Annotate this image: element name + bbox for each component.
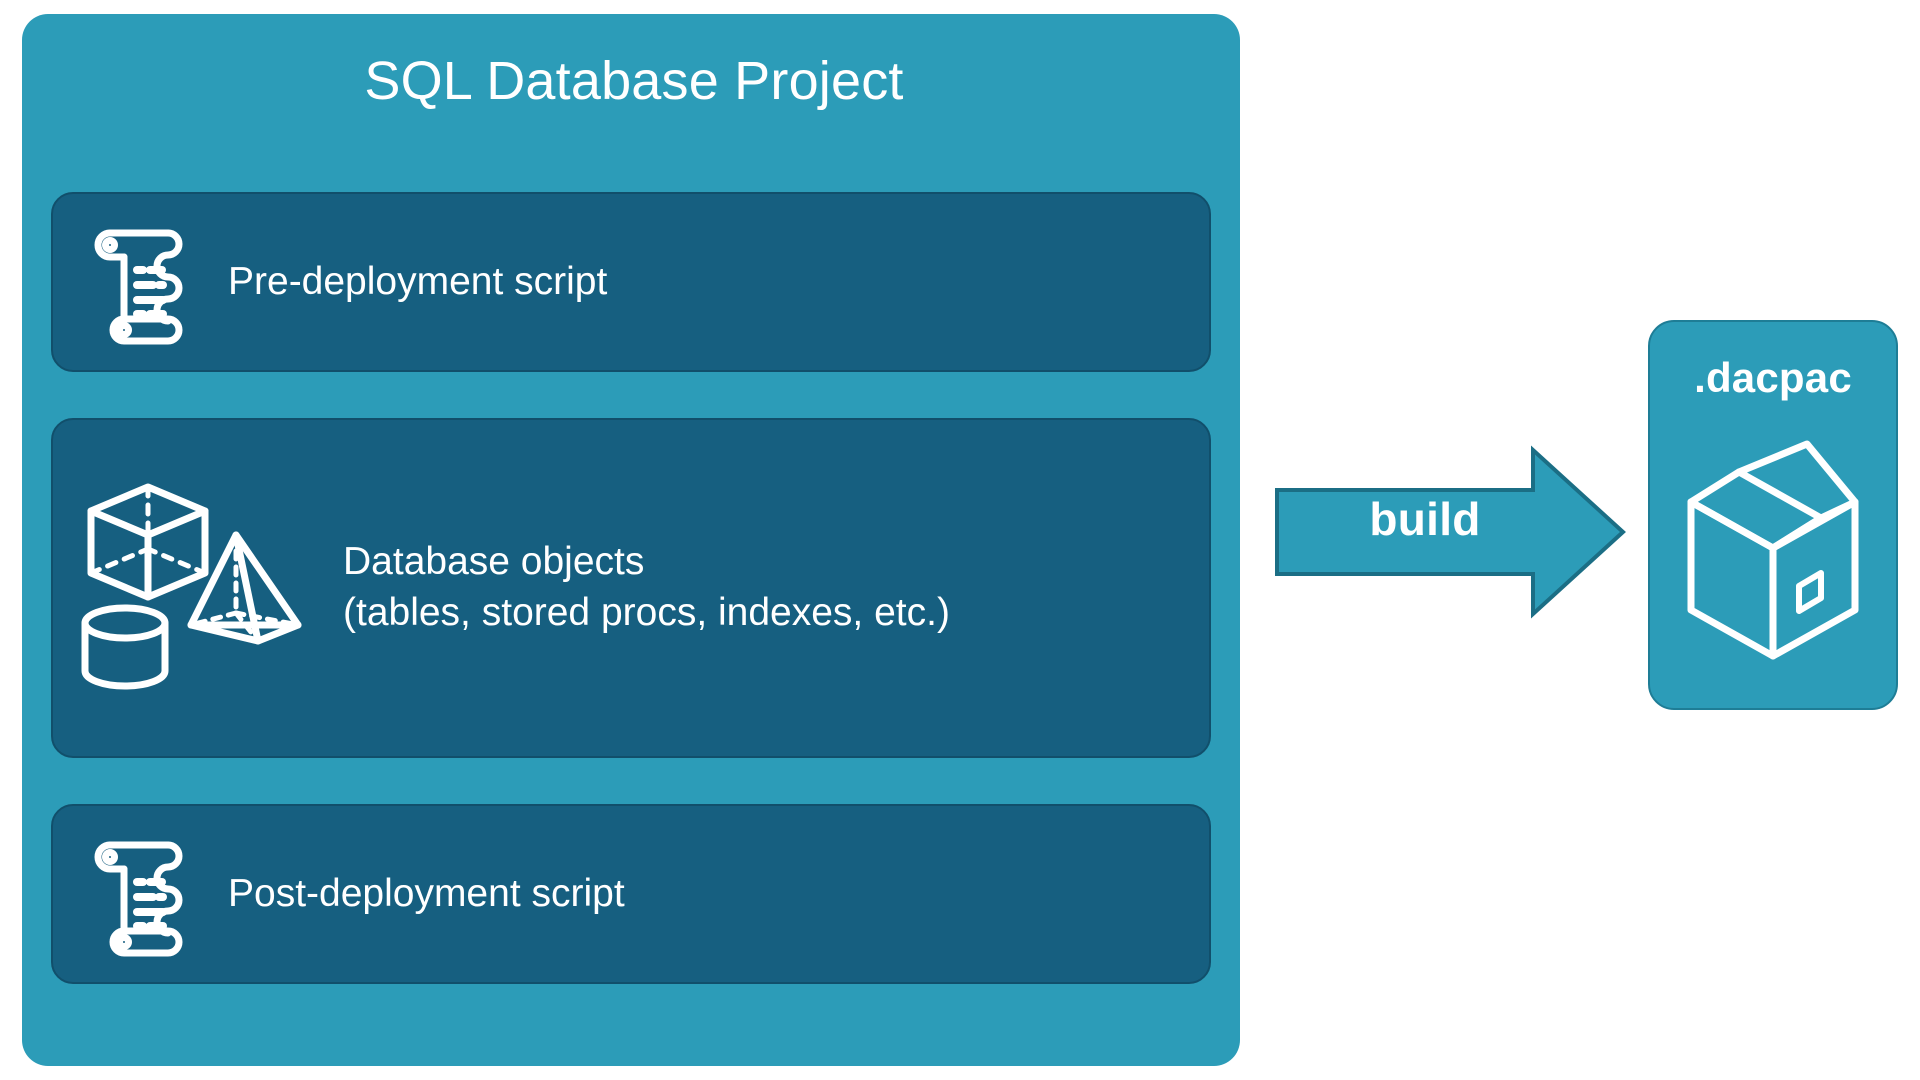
package-box-icon <box>1673 430 1873 670</box>
cylinder-shape <box>85 608 165 686</box>
scroll-icon <box>53 835 228 953</box>
card-label: Post-deployment script <box>228 869 625 920</box>
3d-shapes-icon <box>53 473 343 703</box>
card-pre-deployment-script[interactable]: Pre-deployment script <box>51 192 1211 372</box>
card-label: Pre-deployment script <box>228 257 607 308</box>
sql-database-project-panel: SQL Database Project <box>22 14 1240 1066</box>
card-label: Database objects (tables, stored procs, … <box>343 537 950 638</box>
dacpac-label: .dacpac <box>1650 354 1896 402</box>
card-database-objects[interactable]: Database objects (tables, stored procs, … <box>51 418 1211 758</box>
page-title: SQL Database Project <box>22 52 1240 111</box>
card-post-deployment-script[interactable]: Post-deployment script <box>51 804 1211 984</box>
build-label: build <box>1320 492 1530 546</box>
scroll-icon <box>53 223 228 341</box>
cube-shape <box>91 487 205 597</box>
dacpac-output-card[interactable]: .dacpac <box>1648 320 1898 710</box>
